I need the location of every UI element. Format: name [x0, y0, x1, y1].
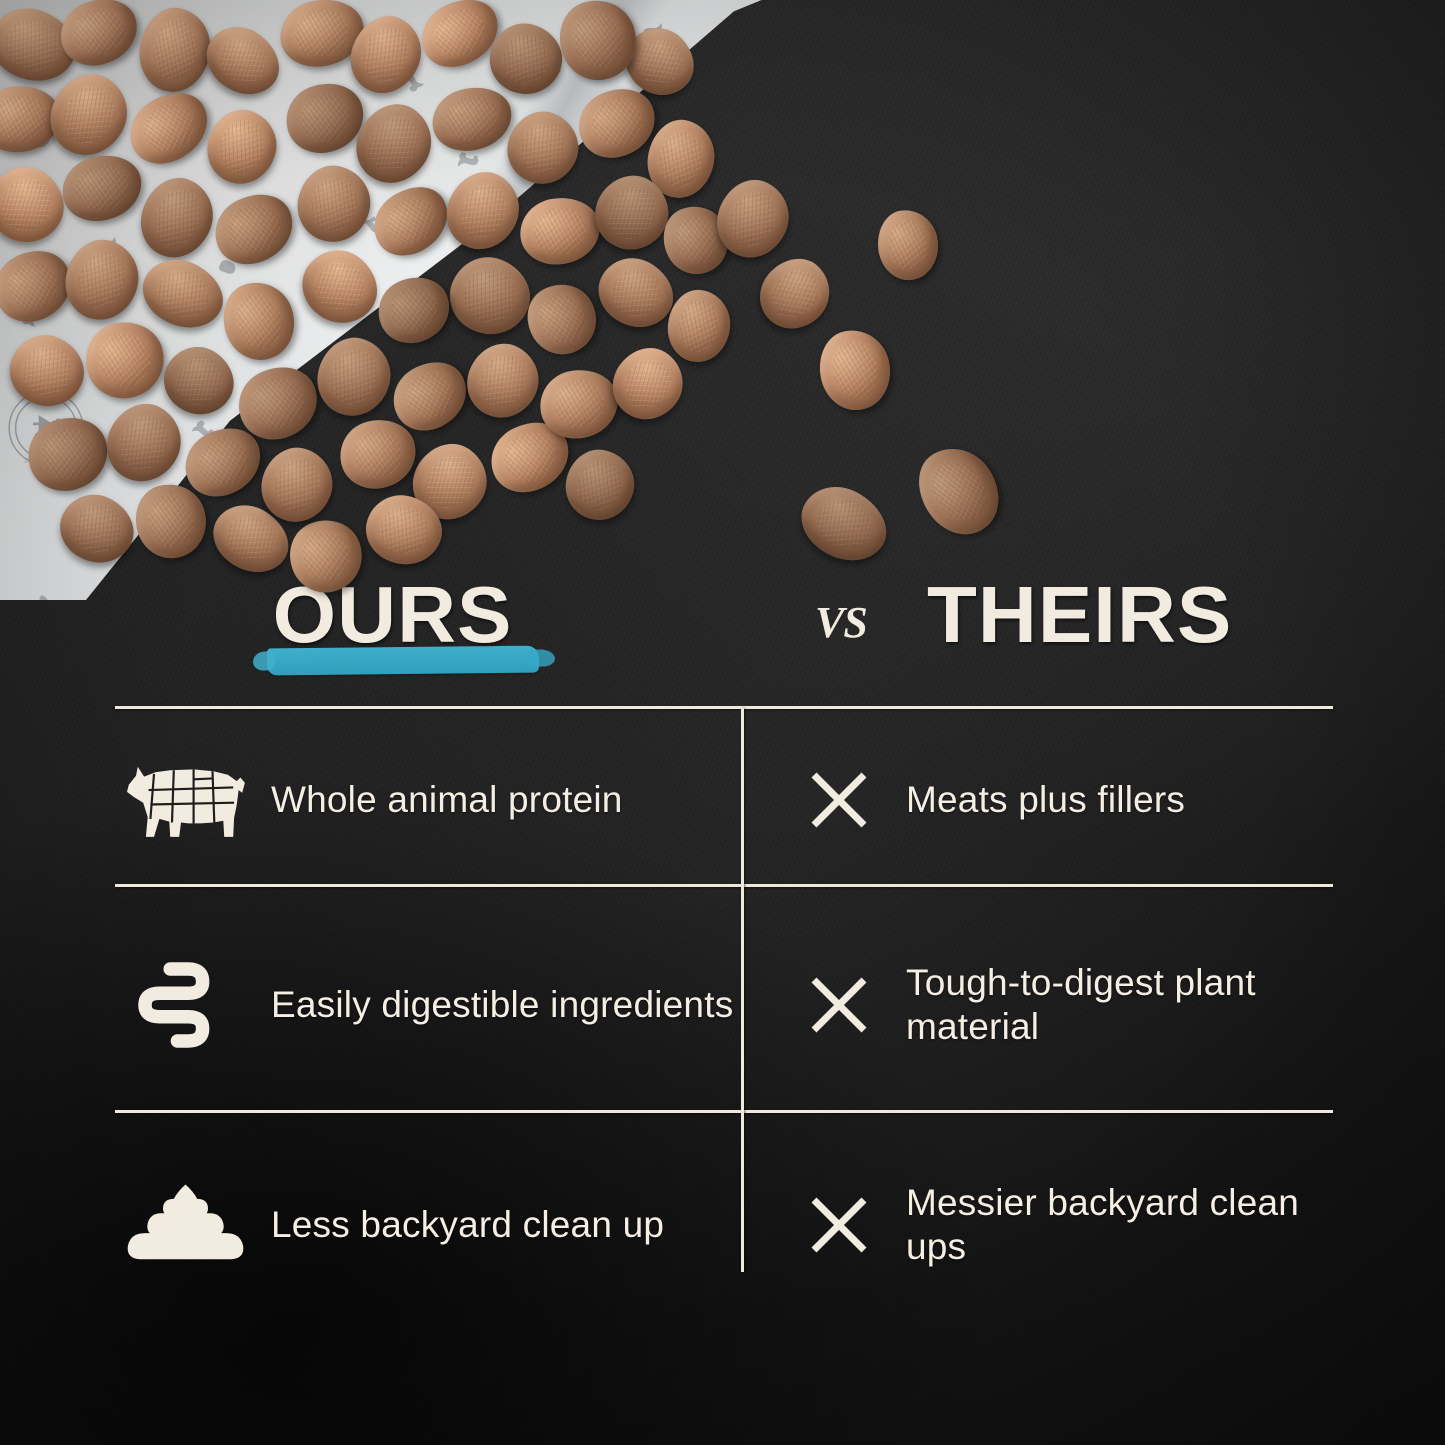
- row-label: Meats plus fillers: [906, 778, 1185, 822]
- divider-rule-middle: [115, 884, 1333, 887]
- row-label: Tough-to-digest plant material: [906, 961, 1340, 1050]
- divider-rule-vertical: [741, 708, 744, 1272]
- divider-rule-bottom: [115, 1110, 1333, 1113]
- table-row: Easily digestible ingredients: [118, 930, 738, 1080]
- product-comparison-image: BUTCHER'S CUT PROTEIN OURS VS THEIRS: [0, 0, 1445, 1445]
- x-mark-icon: [800, 761, 878, 839]
- table-row: Meats plus fillers: [800, 735, 1340, 865]
- table-row: Less backyard clean up: [118, 1155, 738, 1295]
- chart-header: OURS VS THEIRS: [115, 575, 1333, 690]
- row-label: Less backyard clean up: [271, 1203, 664, 1247]
- table-row: Messier backyard clean ups: [800, 1155, 1340, 1295]
- vs-label: VS: [815, 597, 867, 648]
- row-label: Whole animal protein: [271, 778, 623, 822]
- cow-butcher-chart-icon: [118, 750, 253, 850]
- theirs-heading: THEIRS: [927, 575, 1232, 655]
- table-row: Whole animal protein: [118, 735, 738, 865]
- table-row: Tough-to-digest plant material: [800, 930, 1340, 1080]
- x-mark-icon: [800, 1186, 878, 1264]
- row-label: Messier backyard clean ups: [906, 1181, 1340, 1270]
- divider-rule-top: [115, 706, 1333, 709]
- intestine-icon: [118, 955, 253, 1055]
- x-mark-icon: [800, 966, 878, 1044]
- row-label: Easily digestible ingredients: [271, 983, 733, 1027]
- stool-icon: [118, 1175, 253, 1275]
